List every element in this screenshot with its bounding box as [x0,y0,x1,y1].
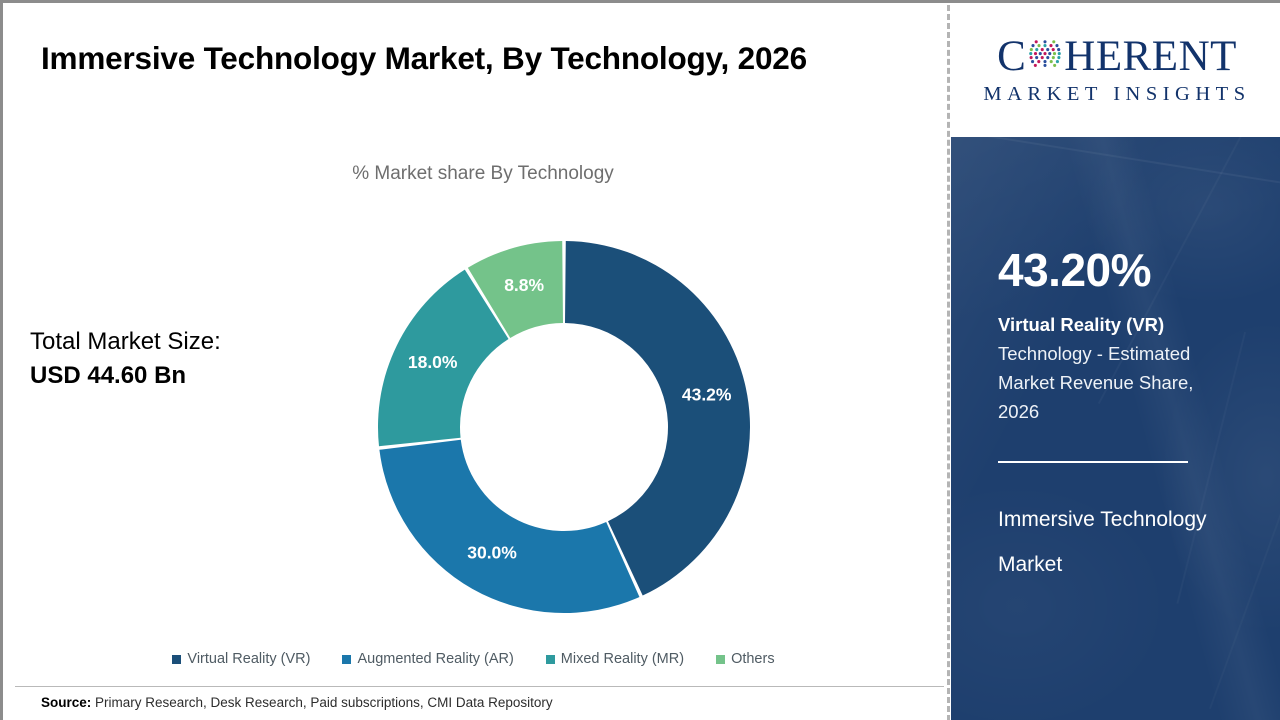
highlight-headline: Virtual Reality (VR) [998,313,1248,336]
page-title: Immersive Technology Market, By Technolo… [41,33,881,84]
donut-slice-label: 43.2% [682,385,732,405]
source-text: Primary Research, Desk Research, Paid su… [91,695,552,710]
donut-slice-label: 18.0% [408,352,458,372]
panel-divider-dashed [947,5,950,720]
donut-slice [379,440,639,613]
chart-legend: Virtual Reality (VR)Augmented Reality (A… [3,651,944,667]
donut-chart-svg: 43.2%30.0%18.0%8.8% [378,231,750,623]
donut-slice-label: 8.8% [504,275,544,295]
infographic-slide: Immersive Technology Market, By Technolo… [0,0,1280,720]
highlight-percent: 43.20% [998,247,1151,293]
source-label: Source: [41,695,91,710]
legend-item-label: Augmented Reality (AR) [357,651,513,667]
source-note: Source: Primary Research, Desk Research,… [41,695,553,710]
legend-swatch-icon [172,655,181,664]
brand-name-part1: C [997,35,1026,78]
legend-item-label: Mixed Reality (MR) [561,651,684,667]
total-market-size-label: Total Market Size: [30,325,350,359]
highlight-subtext: Technology - Estimated Market Revenue Sh… [998,339,1238,426]
legend-item[interactable]: Mixed Reality (MR) [546,651,684,667]
legend-item[interactable]: Others [716,651,775,667]
legend-item-label: Others [731,651,775,667]
brand-tagline: MARKET INSIGHTS [983,83,1250,106]
legend-swatch-icon [546,655,555,664]
decorative-streak [951,137,1280,192]
globe-dots-icon [1027,36,1063,76]
left-content-panel: Immersive Technology Market, By Technolo… [3,3,944,720]
source-divider [15,686,944,687]
legend-swatch-icon [716,655,725,664]
legend-item-label: Virtual Reality (VR) [187,651,310,667]
highlight-footer-title: Immersive Technology Market [998,497,1228,587]
donut-slices [378,241,750,613]
donut-slice-label: 30.0% [467,543,517,563]
total-market-size-value: USD 44.60 Bn [30,359,350,393]
right-sidebar: C HERENT MARKET INSIGHTS 43.20% Virtual … [951,3,1280,720]
chart-subtitle: % Market share By Technology [183,163,783,185]
brand-logo[interactable]: C HERENT MARKET INSIGHTS [951,3,1280,137]
brand-name-part2: HERENT [1064,35,1237,78]
donut-chart: 43.2%30.0%18.0%8.8% [378,231,750,623]
legend-item[interactable]: Augmented Reality (AR) [342,651,513,667]
highlight-divider [998,461,1188,463]
legend-swatch-icon [342,655,351,664]
highlight-panel: 43.20% Virtual Reality (VR) Technology -… [951,137,1280,720]
legend-item[interactable]: Virtual Reality (VR) [172,651,310,667]
brand-logo-wordmark: C HERENT [997,35,1237,78]
total-market-size-block: Total Market Size: USD 44.60 Bn [30,325,350,393]
